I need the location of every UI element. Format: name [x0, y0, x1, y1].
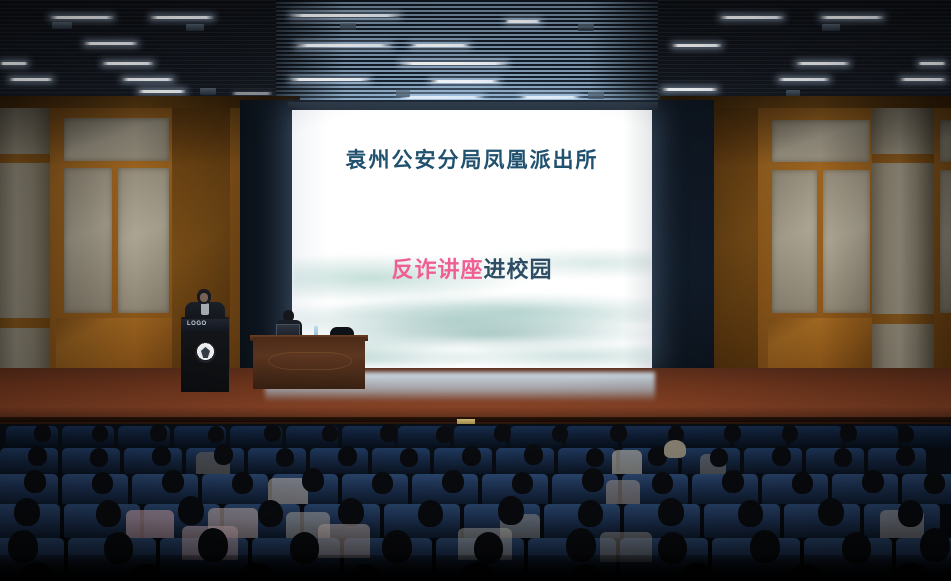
ceiling-lamp: [122, 78, 174, 81]
ceiling-lamp: [400, 62, 508, 65]
audience-head: [14, 498, 40, 526]
audience-head: [24, 470, 46, 493]
ceiling-lamp: [778, 78, 830, 81]
audience-head: [302, 468, 324, 492]
ceiling-lamp: [720, 16, 784, 19]
acoustic-panel: [823, 170, 870, 313]
ceiling-lamp: [84, 42, 138, 45]
audience-head: [658, 498, 684, 526]
slide-heading: 袁州公安分局凤凰派出所: [292, 144, 652, 174]
ceiling-lamp: [0, 62, 28, 65]
audience-head: [898, 500, 923, 527]
auditorium-seat: [734, 426, 786, 448]
audience-head: [834, 448, 852, 467]
wall-column: [0, 108, 50, 376]
audience-head: [610, 424, 627, 442]
audience-garment: [126, 510, 174, 538]
ceiling-lamp: [672, 44, 722, 47]
audience-garment: [612, 450, 642, 474]
audience-head: [442, 470, 464, 493]
auditorium-seat: [790, 426, 842, 448]
audience-garment: [318, 524, 370, 558]
ceiling-lamp: [290, 14, 400, 17]
audience-head: [92, 472, 113, 494]
audience-head: [724, 424, 741, 442]
audience-head: [232, 472, 253, 494]
audience-head: [738, 500, 763, 527]
police-badge-icon: [196, 343, 215, 362]
audience-head: [34, 424, 51, 442]
ceiling-lamp: [102, 62, 154, 65]
audience-head: [338, 498, 364, 526]
audience-head: [524, 444, 543, 465]
column-band: [0, 318, 50, 328]
ceiling-lamp: [918, 62, 946, 65]
audience-head: [898, 426, 914, 443]
audience-head: [512, 472, 533, 494]
ceiling-fixture: [578, 24, 594, 31]
ceiling-lamp: [9, 78, 53, 81]
audience-head: [90, 448, 108, 467]
bottom-darkness: [0, 555, 951, 581]
slide-subtitle-highlight: 反诈讲座: [391, 258, 483, 283]
audience-head: [322, 425, 338, 442]
audience-head: [92, 425, 108, 442]
audience-head: [586, 448, 604, 467]
auditorium-photo: 袁州公安分局凤凰派出所 反诈讲座进校园 LOGO: [0, 0, 951, 581]
acoustic-panel: [772, 170, 817, 313]
audience-head: [214, 444, 233, 465]
audience-head: [96, 500, 121, 527]
speaker-shirt: [201, 303, 209, 315]
acoustic-panel: [940, 170, 951, 313]
audience-head: [276, 448, 294, 467]
audience-head: [150, 424, 167, 442]
acoustic-panel: [64, 118, 169, 161]
audience-head: [652, 472, 673, 494]
audience-head: [772, 446, 791, 466]
audience-head: [710, 448, 728, 467]
ceiling-lamp: [50, 16, 114, 19]
column-band: [0, 154, 50, 163]
audience-head: [924, 472, 945, 494]
wall-wainscot: [768, 318, 878, 374]
ceiling-lamp: [505, 20, 541, 23]
audience-head: [664, 440, 686, 458]
acoustic-panel: [118, 168, 169, 313]
audience-head: [782, 425, 798, 442]
acoustic-panel: [940, 120, 951, 162]
slide-subtitle-rest: 进校园: [484, 258, 553, 283]
ceiling-lamp: [150, 16, 214, 19]
column-band: [872, 154, 934, 163]
ceiling-fixture: [822, 24, 840, 31]
audience-head: [372, 472, 393, 494]
table-carving: [268, 352, 352, 370]
ceiling-lamp: [820, 16, 884, 19]
audience-head: [338, 446, 357, 466]
audience-head: [162, 470, 184, 493]
audience-head: [498, 496, 524, 525]
ceiling-fixture: [340, 23, 356, 30]
audience-head: [380, 424, 397, 442]
wall-pilaster: [710, 108, 758, 376]
ceiling-lamp: [410, 44, 470, 47]
wall-column: [872, 108, 934, 376]
speaker-face: [200, 293, 208, 302]
ceiling-lamp: [796, 62, 850, 65]
audience-head: [208, 426, 224, 443]
acoustic-panel: [64, 168, 112, 313]
audience-head: [494, 424, 511, 442]
audience-head: [722, 470, 744, 493]
slide-subtitle: 反诈讲座进校园: [292, 252, 652, 284]
audience-head: [264, 424, 281, 442]
ceiling-lamp: [900, 78, 946, 81]
audience-head: [258, 500, 283, 527]
audience-head: [552, 425, 568, 442]
audience-head: [578, 500, 603, 527]
audience-head: [152, 446, 171, 466]
acoustic-panel: [772, 120, 870, 162]
audience-head: [436, 426, 452, 443]
ceiling-fixture: [186, 24, 204, 31]
audience-head: [840, 424, 857, 442]
column-band: [872, 314, 934, 324]
audience-head: [792, 472, 813, 494]
auditorium-seat: [678, 426, 730, 448]
audience-garment: [606, 480, 640, 504]
ceiling-lamp: [296, 44, 392, 47]
podium-logo-label: LOGO: [187, 321, 227, 327]
ceiling-fixture: [52, 22, 72, 29]
audience-head: [818, 498, 844, 526]
audience-head: [462, 446, 481, 466]
audience-head: [418, 500, 443, 527]
audience-head: [178, 496, 204, 525]
audience-head: [400, 448, 418, 467]
audience-head: [582, 468, 604, 492]
audience-head: [862, 470, 884, 493]
ceiling-lamp: [138, 90, 186, 93]
audience-head: [896, 446, 915, 466]
audience-head: [28, 446, 47, 466]
